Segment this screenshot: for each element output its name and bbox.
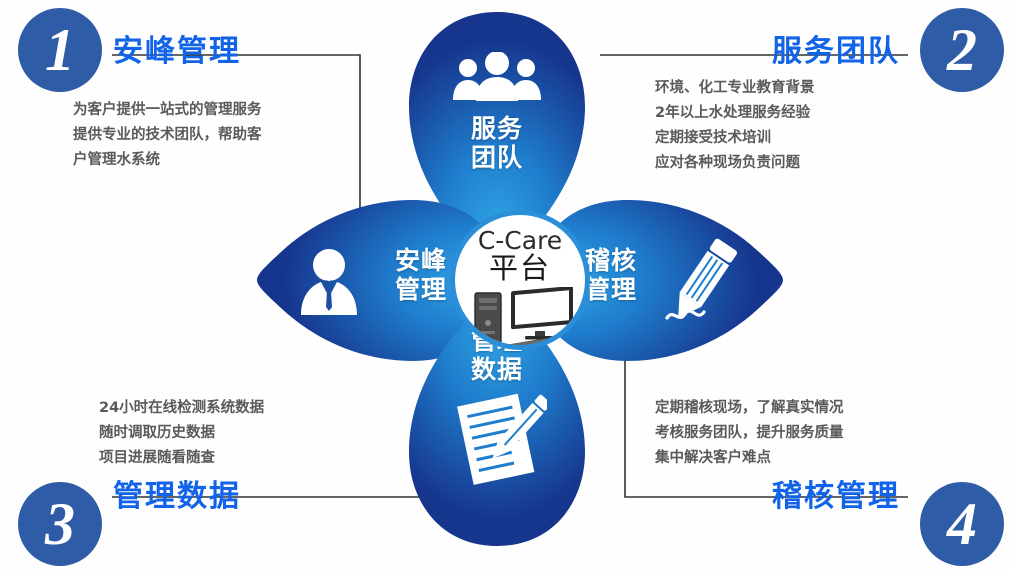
section-body-line: 环境、化工专业教育背景 (655, 76, 815, 101)
hub-subtitle: 平台 (455, 253, 585, 283)
section-body-line: 提供专业的技术团队，帮助客 (73, 123, 262, 148)
section-body-line: 集中解决客户难点 (655, 446, 844, 471)
infographic-canvas: 服务 团队 (0, 0, 1010, 572)
section-title-2: 服务团队 (772, 26, 900, 70)
section-number-1: 1 (18, 8, 102, 92)
section-body-4: 定期稽核现场，了解真实情况考核服务团队，提升服务质量集中解决客户难点 (655, 396, 844, 471)
section-body-2: 环境、化工专业教育背景2年以上水处理服务经验定期接受技术培训应对各种现场负责问题 (655, 76, 815, 176)
section-number-2: 2 (920, 8, 1004, 92)
section-body-line: 考核服务团队，提升服务质量 (655, 421, 844, 446)
petal-label-service-team: 服务 团队 (407, 114, 587, 172)
section-body-line: 为客户提供一站式的管理服务 (73, 98, 262, 123)
section-title-1: 安峰管理 (113, 26, 241, 70)
businessman-icon (293, 245, 365, 322)
section-body-line: 定期接受技术培训 (655, 126, 815, 151)
three-people-icon (451, 52, 543, 107)
section-body-3: 24小时在线检测系统数据随时调取历史数据项目进展随看随查 (99, 396, 264, 471)
section-title-3: 管理数据 (113, 471, 241, 515)
section-body-1: 为客户提供一站式的管理服务提供专业的技术团队，帮助客户管理水系统 (73, 98, 262, 173)
section-body-line: 户管理水系统 (73, 148, 262, 173)
hub-title: C-Care (455, 227, 585, 254)
section-body-line: 24小时在线检测系统数据 (99, 396, 264, 421)
center-hub[interactable]: C-Care 平台 (450, 210, 590, 350)
section-number-3: 3 (18, 482, 102, 566)
pencil-signature-icon (659, 234, 751, 339)
section-body-line: 定期稽核现场，了解真实情况 (655, 396, 844, 421)
section-body-line: 随时调取历史数据 (99, 421, 264, 446)
section-body-line: 应对各种现场负责问题 (655, 151, 815, 176)
section-body-line: 项目进展随看随查 (99, 446, 264, 471)
section-title-4: 稽核管理 (772, 471, 900, 515)
clipboard-pencil-icon (457, 392, 547, 493)
section-number-4: 4 (920, 482, 1004, 566)
section-body-line: 2年以上水处理服务经验 (655, 101, 815, 126)
desktop-computer-icon (469, 287, 581, 349)
